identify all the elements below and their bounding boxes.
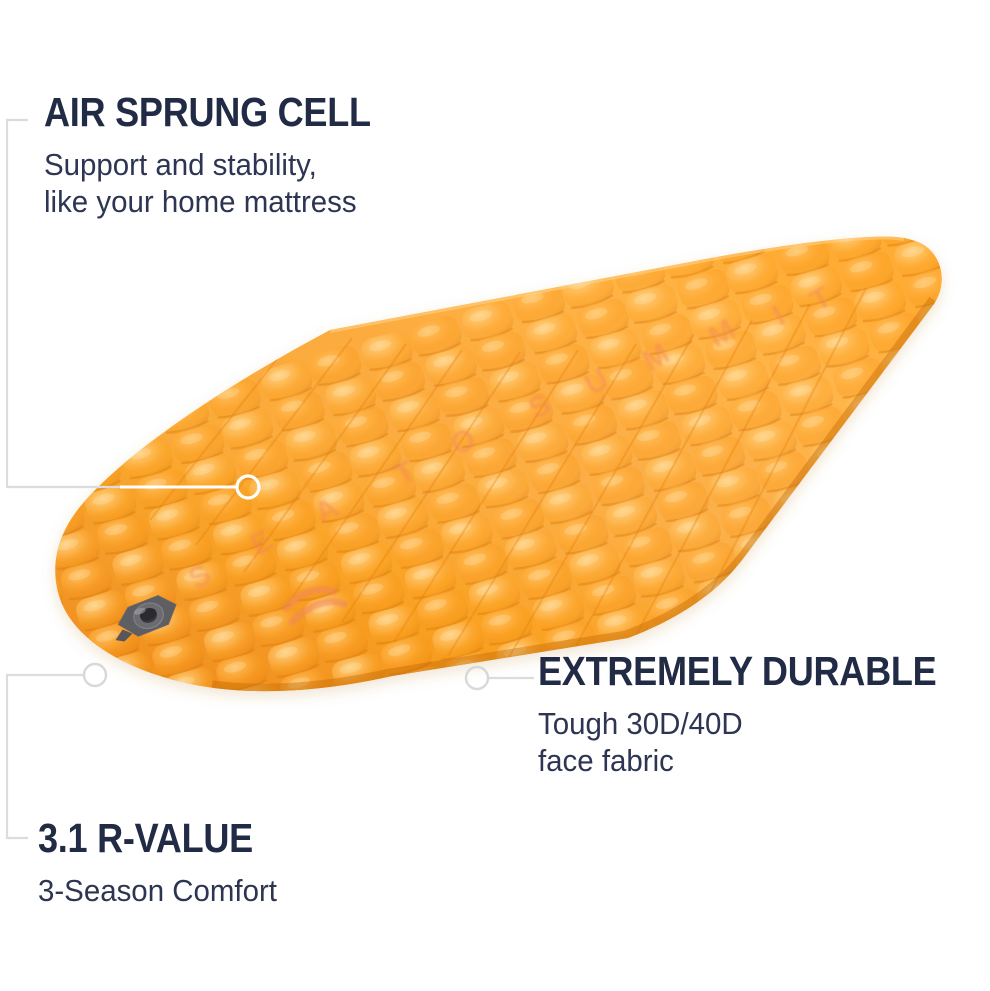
air-cell: [898, 509, 955, 554]
air-cell: [864, 173, 921, 219]
air-cell: [177, 696, 234, 741]
air-cell: [113, 679, 170, 725]
callout-subtitle-line: Support and stability,: [44, 147, 397, 184]
air-cell: [935, 463, 990, 508]
air-cell: [763, 203, 820, 248]
air-cell: [241, 711, 298, 756]
air-cell: [983, 447, 990, 493]
air-cell: [907, 401, 964, 447]
air-cell: [0, 450, 8, 496]
air-cell: [49, 667, 106, 712]
callout-subtitle-line: like your home mattress: [44, 184, 397, 221]
air-cell: [968, 281, 990, 326]
air-cell: [22, 606, 79, 651]
air-cell: [62, 698, 119, 743]
air-cell: [290, 696, 347, 741]
air-cell: [2, 434, 60, 482]
air-cell: [971, 418, 990, 463]
callout-r-value: 3.1 R-VALUE 3-Season Comfort: [38, 818, 290, 910]
air-cell: [834, 495, 891, 541]
air-cell: [943, 356, 990, 402]
callout-title-air-sprung-cell: AIR SPRUNG CELL: [44, 92, 371, 133]
air-cell: [341, 681, 398, 727]
air-cell: [9, 572, 66, 617]
air-cell: [0, 542, 51, 588]
air-cell: [912, 158, 969, 203]
air-cell: [955, 250, 990, 295]
air-cell: [847, 526, 904, 571]
air-cell: [976, 174, 990, 220]
air-cell: [883, 478, 940, 523]
air-cell: [0, 480, 24, 528]
air-cell: [15, 465, 73, 512]
air-cell: [125, 710, 182, 755]
air-cell: [189, 725, 246, 771]
callout-subtitle-line: Tough 30D/40D: [538, 706, 968, 743]
callout-subtitle-air-sprung-cell: Support and stability, like your home ma…: [44, 147, 397, 220]
air-cell: [0, 511, 36, 558]
callout-air-sprung-cell: AIR SPRUNG CELL Support and stability, l…: [44, 92, 415, 220]
air-cell: [940, 219, 990, 265]
air-cell: [947, 493, 990, 539]
air-cell: [795, 540, 852, 586]
callout-subtitle-line: 3-Season Comfort: [38, 873, 277, 910]
air-cell: [812, 189, 869, 234]
air-cell: [959, 387, 990, 432]
air-cell: [919, 432, 976, 477]
air-cell: [77, 728, 134, 774]
air-cell: [931, 326, 988, 371]
air-cell: [980, 310, 990, 356]
air-cell: [895, 372, 952, 417]
air-cell: [51, 420, 109, 467]
air-cell: [856, 417, 913, 462]
callout-title-r-value: 3.1 R-VALUE: [38, 818, 259, 859]
callout-title-extremely-durable: EXTREMELY DURABLE: [538, 651, 936, 692]
air-cell: [928, 189, 985, 234]
air-cell: [783, 511, 840, 556]
air-cell: [34, 636, 91, 682]
air-cell: [819, 465, 876, 510]
air-cell: [98, 650, 155, 695]
callout-subtitle-extremely-durable: Tough 30D/40D face fabric: [538, 706, 968, 779]
air-cell: [746, 556, 803, 601]
callout-subtitle-r-value: 3-Season Comfort: [38, 873, 277, 910]
air-cell: [871, 447, 928, 493]
callout-extremely-durable: EXTREMELY DURABLE Tough 30D/40D face fab…: [538, 651, 990, 779]
infographic-canvas: S E A T O S U M M I T: [0, 0, 990, 991]
callout-subtitle-line: face fabric: [538, 743, 968, 780]
